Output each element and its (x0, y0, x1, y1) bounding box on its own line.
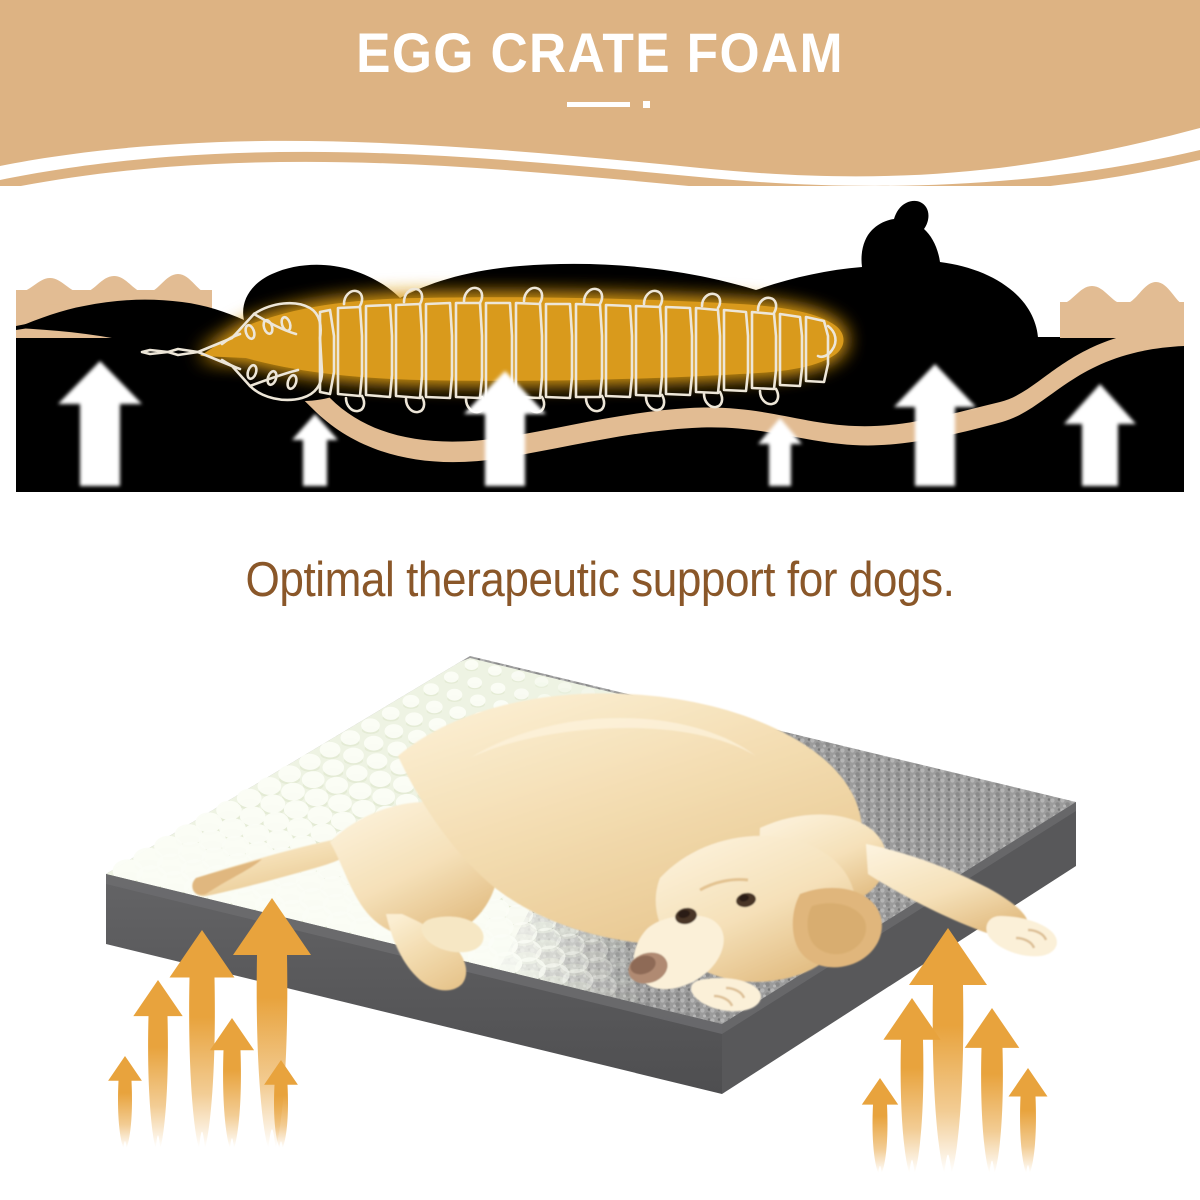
page-title: EGG CRATE FOAM (48, 22, 1152, 84)
sherpa-arrow-1 (862, 1078, 898, 1173)
product-infographic-page: EGG CRATE FOAM (0, 0, 1200, 1200)
title-divider (0, 100, 1200, 112)
header-banner: EGG CRATE FOAM (0, 0, 1200, 186)
divider-dot (643, 101, 650, 108)
tagline-text: Optimal therapeutic support for dogs. (60, 549, 1140, 611)
divider-dash (567, 102, 630, 107)
sherpa-arrow-4 (965, 1008, 1020, 1173)
dog-on-bed-photo (0, 628, 1200, 1200)
foam-arrow-1 (108, 1056, 142, 1148)
spine-support-diagram (0, 186, 1200, 536)
sherpa-arrow-5 (1009, 1068, 1048, 1173)
foam-arrow-2 (133, 980, 182, 1148)
foam-arrow-4 (210, 1018, 254, 1148)
sherpa-arrow-2 (883, 998, 940, 1173)
